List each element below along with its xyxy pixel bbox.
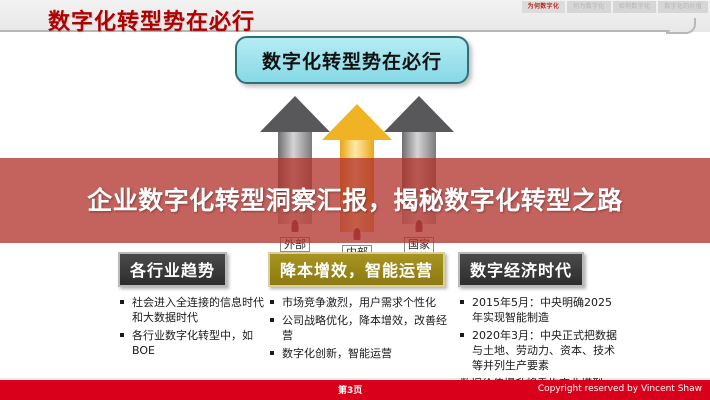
list-item: 2015年5月：中央明确2025年实现智能制造 <box>458 295 618 325</box>
section-tabs[interactable]: 为何数字化 何为数字化 如何数字化 数字化的价值 <box>520 1 708 13</box>
column-bullet-list: 社会进入全连接的信息时代和大数据时代 各行业数字化转型中，如BOE <box>118 295 268 358</box>
hero-callout-text: 数字化转型势在必行 <box>262 47 442 74</box>
slide-canvas: 数字化转型势在必行 为何数字化 何为数字化 如何数字化 数字化的价值 数字化转型… <box>0 0 710 400</box>
arrow-head-icon <box>322 104 392 140</box>
overlay-title-text: 企业数字化转型洞察汇报，揭秘数字化转型之路 <box>45 184 665 218</box>
arrow-head-icon <box>260 96 330 132</box>
content-columns: 各行业趋势 社会进入全连接的信息时代和大数据时代 各行业数字化转型中，如BOE … <box>0 252 710 378</box>
copyright-text: Copyright reserved by Vincent Shaw <box>538 384 702 394</box>
list-item: 2020年3月：中央正式把数据与土地、劳动力、资本、技术等并列生产要素 <box>458 328 618 373</box>
overlay-title-band: 企业数字化转型洞察汇报，揭秘数字化转型之路 <box>0 158 710 243</box>
column-industry-trends: 各行业趋势 社会进入全连接的信息时代和大数据时代 各行业数字化转型中，如BOE <box>118 252 268 361</box>
tab-what-digital[interactable]: 何为数字化 <box>567 1 611 13</box>
arrow-head-icon <box>384 96 454 132</box>
hero-callout-box: 数字化转型势在必行 <box>235 36 469 84</box>
slide-header: 数字化转型势在必行 为何数字化 何为数字化 如何数字化 数字化的价值 <box>0 0 710 32</box>
list-item: 各行业数字化转型中，如BOE <box>118 328 268 358</box>
column-digital-economy: 数字经济时代 2015年5月：中央明确2025年实现智能制造 2020年3月：中… <box>458 252 618 391</box>
column-heading: 各行业趋势 <box>118 252 227 287</box>
page-number: 第3页 <box>338 383 362 396</box>
column-cost-efficiency: 降本增效，智能运营 市场竞争激烈，用户需求个性化 公司战略优化，降本增效，改善经… <box>268 252 450 364</box>
tab-why-digital[interactable]: 为何数字化 <box>522 1 566 13</box>
column-heading: 降本增效，智能运营 <box>268 252 445 287</box>
tab-how-digital[interactable]: 如何数字化 <box>613 1 657 13</box>
column-bullet-list: 2015年5月：中央明确2025年实现智能制造 2020年3月：中央正式把数据与… <box>458 295 618 373</box>
page-title: 数字化转型势在必行 <box>48 4 255 36</box>
list-item: 社会进入全连接的信息时代和大数据时代 <box>118 295 268 325</box>
tab-digital-value[interactable]: 数字化的价值 <box>658 1 708 13</box>
list-item: 数字化创新，智能运营 <box>268 346 450 361</box>
list-item: 公司战略优化，降本增效，改善经营 <box>268 313 450 343</box>
column-bullet-list: 市场竞争激烈，用户需求个性化 公司战略优化，降本增效，改善经营 数字化创新，智能… <box>268 295 450 361</box>
list-item: 市场竞争激烈，用户需求个性化 <box>268 295 450 310</box>
column-heading: 数字经济时代 <box>458 252 584 287</box>
slide-footer: 第3页 Copyright reserved by Vincent Shaw <box>0 380 710 400</box>
